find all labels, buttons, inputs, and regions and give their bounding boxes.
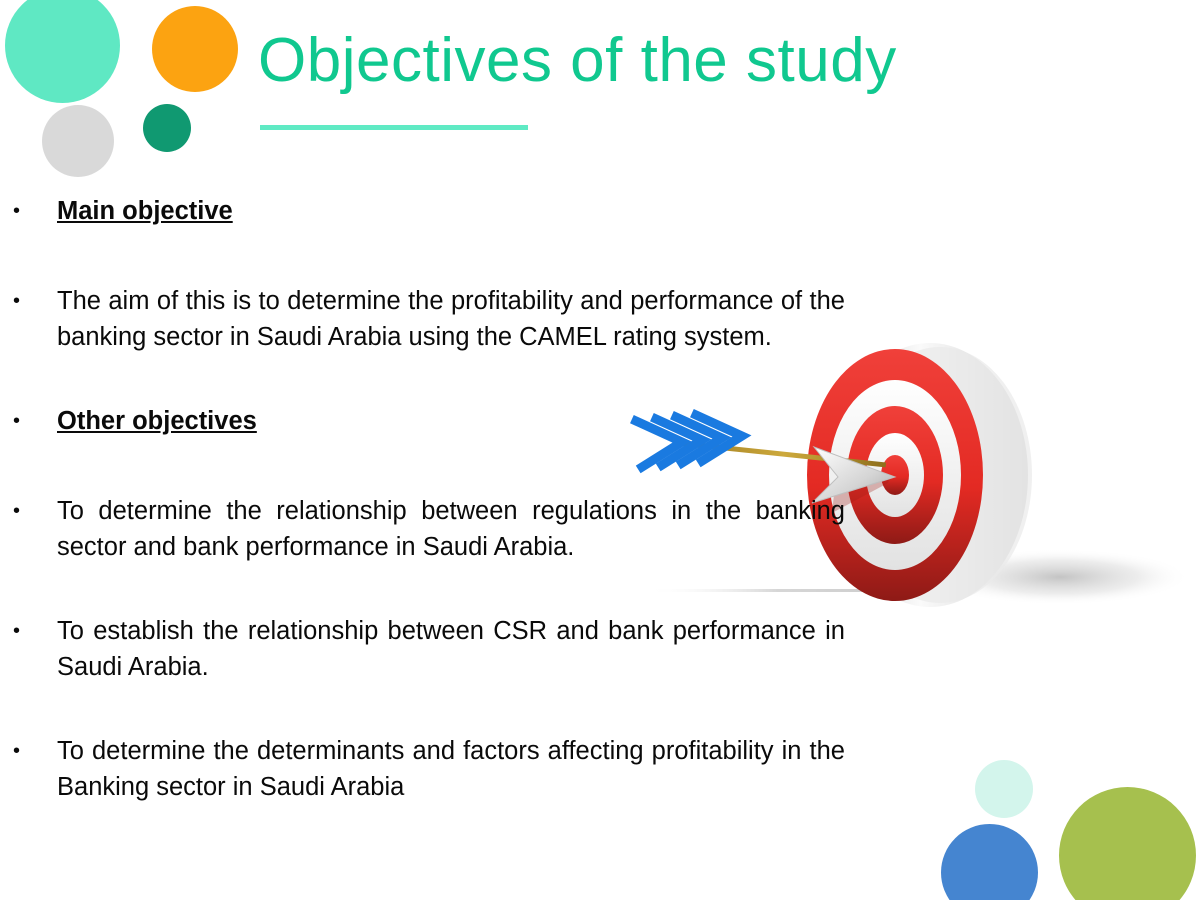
list-item: • To determine the relationship between …: [0, 493, 845, 565]
teal-circle-decoration: [143, 104, 191, 152]
mint-large-circle-decoration: [5, 0, 120, 103]
bullet-marker-icon: •: [13, 493, 20, 529]
spacer: [0, 565, 845, 613]
list-item: • To determine the determinants and fact…: [0, 733, 845, 805]
bullet-marker-icon: •: [13, 613, 20, 649]
list-item: • To establish the relationship between …: [0, 613, 845, 685]
spacer: [0, 439, 845, 493]
gray-circle-decoration: [42, 105, 114, 177]
slide-title: Objectives of the study: [258, 28, 897, 95]
bullet-marker-icon: •: [13, 403, 20, 439]
list-item: • Other objectives: [0, 403, 845, 439]
title-underline-rule: [260, 125, 528, 130]
bullet-heading-main-objective: Main objective: [57, 193, 233, 229]
list-item: • Main objective: [0, 193, 845, 229]
bullet-marker-icon: •: [13, 193, 20, 229]
spacer: [0, 355, 845, 403]
list-item: • The aim of this is to determine the pr…: [0, 283, 845, 355]
orange-circle-decoration: [152, 6, 238, 92]
bullet-text-regulations: To determine the relationship between re…: [57, 493, 845, 565]
bullet-text-aim: The aim of this is to determine the prof…: [57, 283, 845, 355]
pale-mint-circle-decoration: [975, 760, 1033, 818]
olive-circle-decoration: [1059, 787, 1196, 900]
slide-canvas: Objectives of the study: [0, 0, 1200, 900]
bullet-heading-other-objectives: Other objectives: [57, 403, 257, 439]
blue-circle-decoration: [941, 824, 1038, 900]
spacer: [0, 685, 845, 733]
bullet-text-csr: To establish the relationship between CS…: [57, 613, 845, 685]
spacer: [0, 229, 845, 283]
bullet-marker-icon: •: [13, 733, 20, 769]
objectives-list: • Main objective • The aim of this is to…: [0, 193, 845, 805]
bullet-text-determinants: To determine the determinants and factor…: [57, 733, 845, 805]
bullet-marker-icon: •: [13, 283, 20, 319]
